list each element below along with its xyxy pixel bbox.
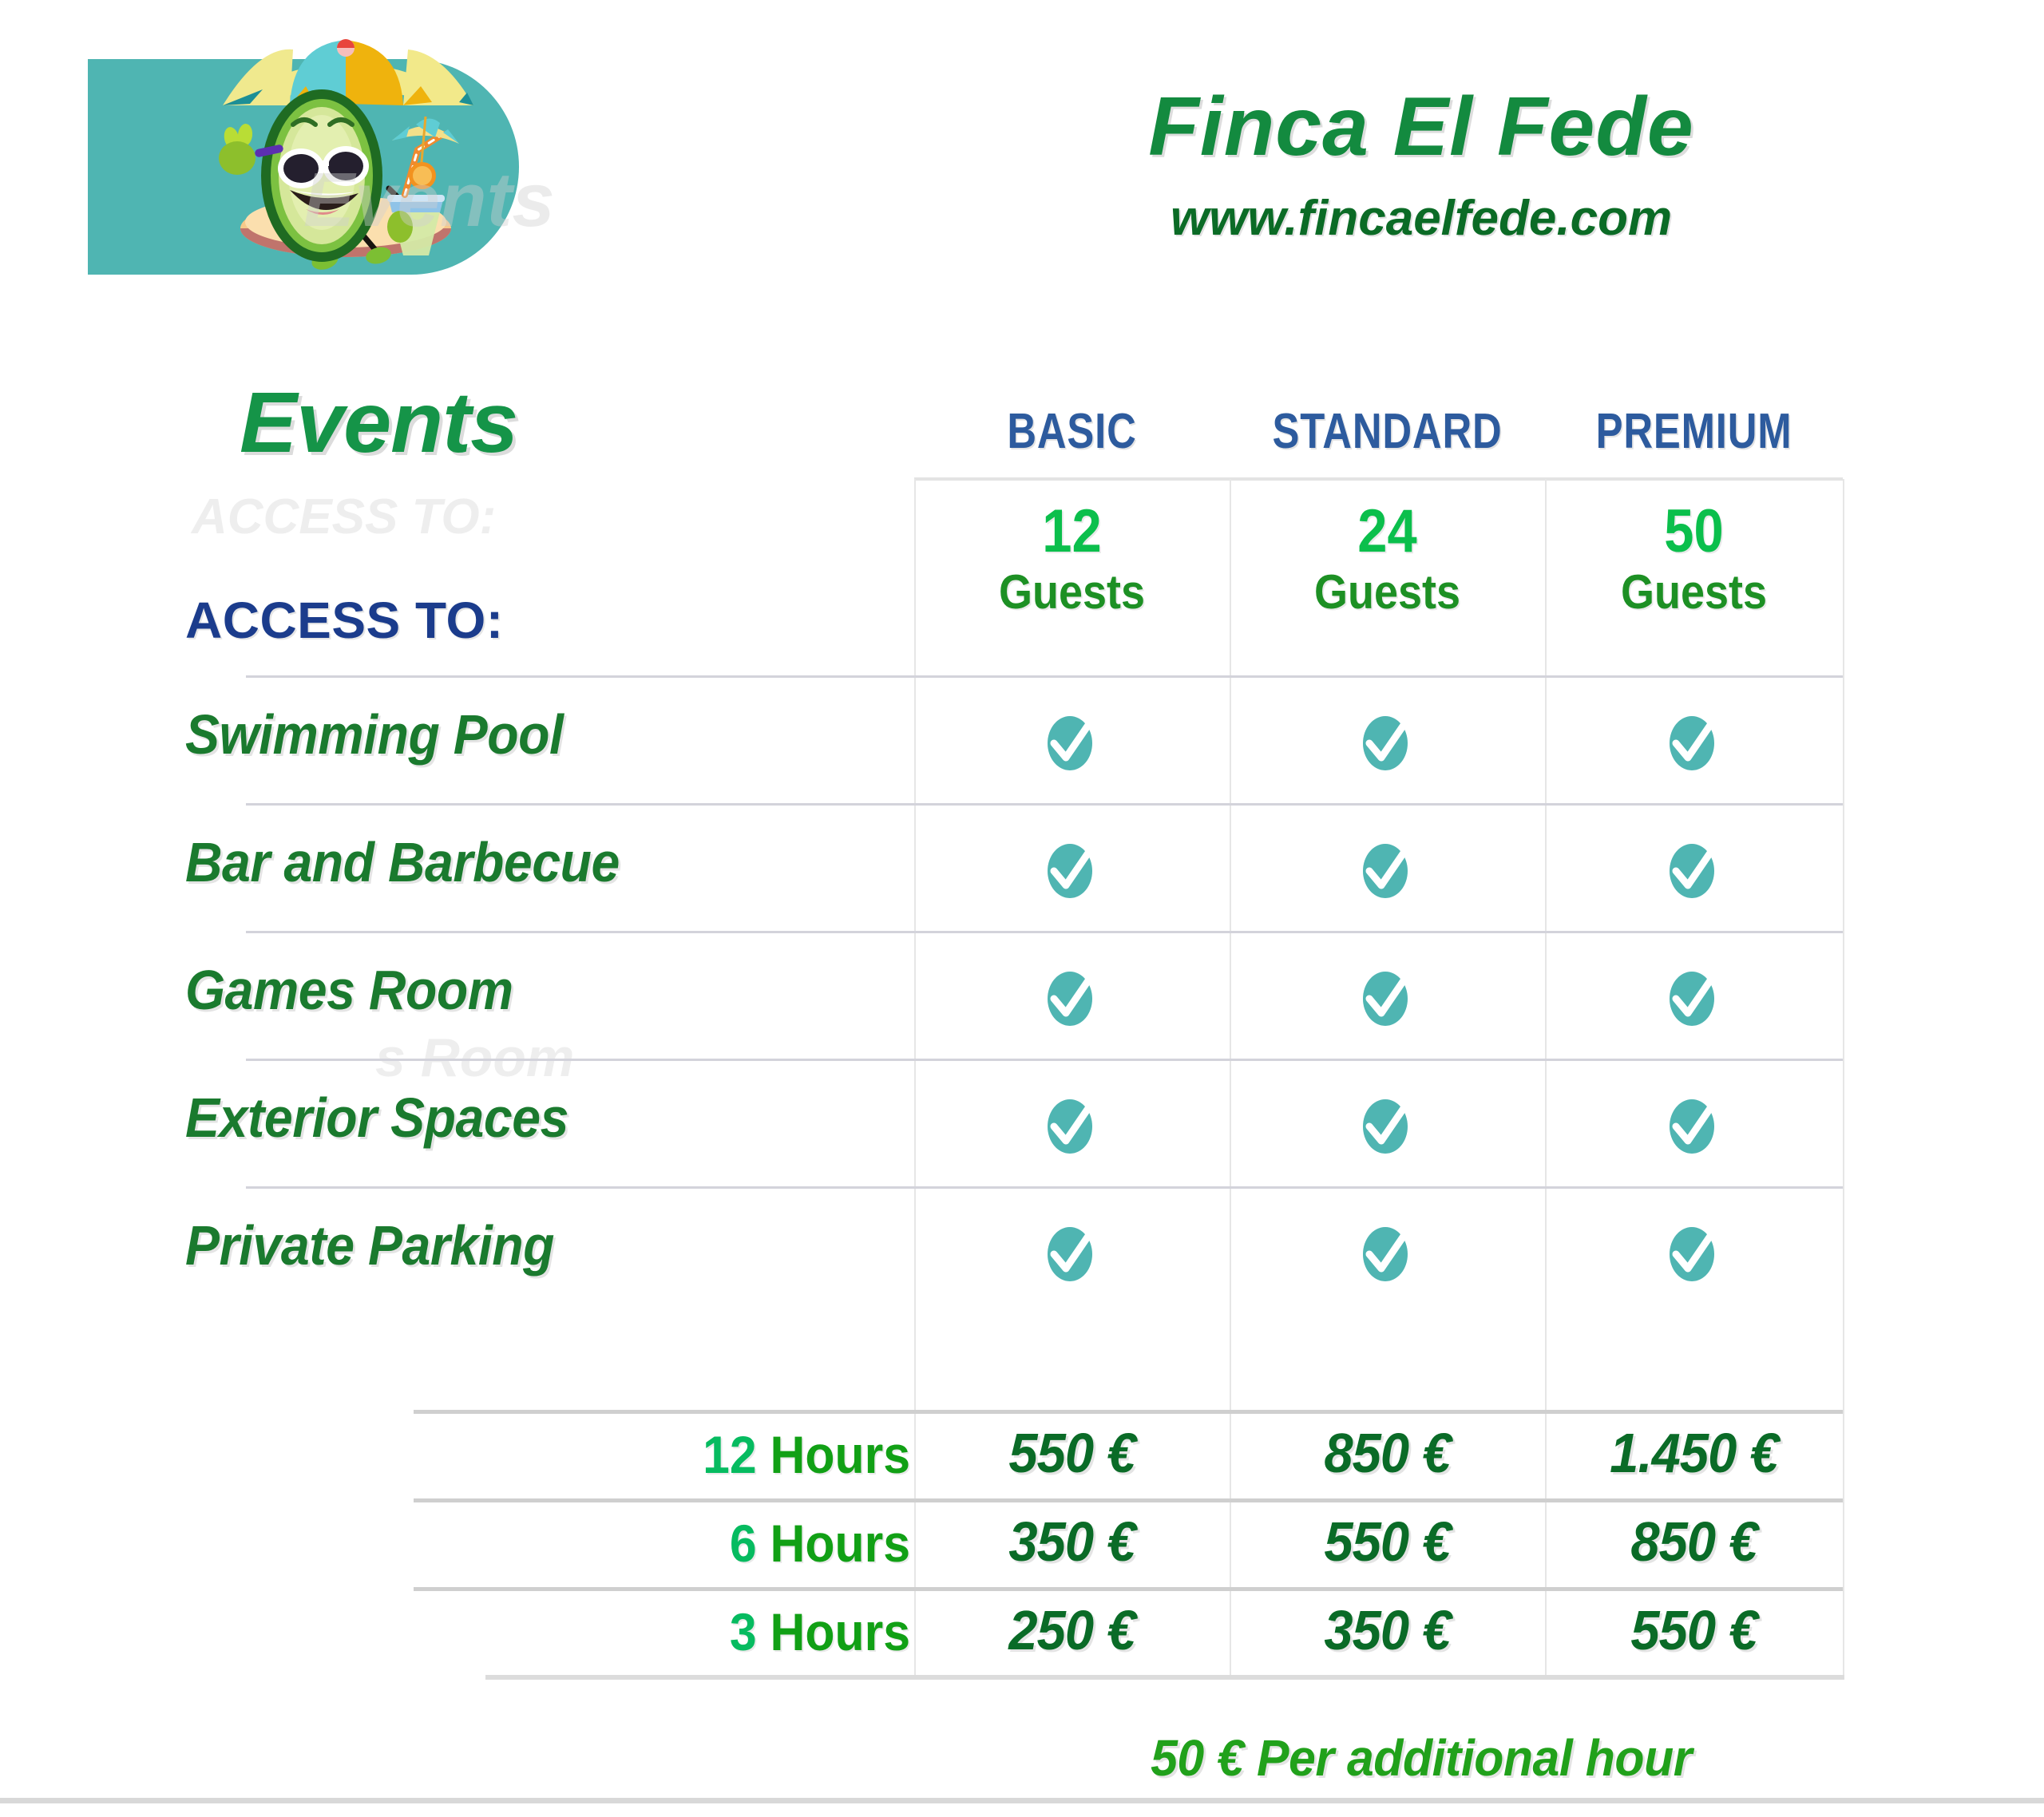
feature-cell-standard (1230, 1207, 1545, 1295)
price-standard: 350 € (1241, 1598, 1534, 1662)
row-divider (246, 803, 1843, 806)
guest-label: Guests (930, 567, 1214, 617)
plan-header-standard[interactable]: STANDARD (1258, 403, 1517, 460)
duration-label: 6 Hours (543, 1513, 910, 1574)
additional-hour-note: 50 € Per additional hour (1080, 1728, 1763, 1787)
features-heading: ACCESS TO: (185, 591, 504, 650)
duration-label: 12 Hours (543, 1424, 910, 1485)
feature-cell-basic (914, 696, 1230, 784)
check-icon (1041, 703, 1103, 777)
price-basic: 350 € (925, 1510, 1218, 1574)
feature-label: Bar and Barbecue (185, 830, 620, 894)
duration-unit: Hours (757, 1602, 910, 1661)
price-basic: 250 € (925, 1598, 1218, 1662)
feature-row: Exterior Spaces (0, 1059, 2044, 1186)
guest-count: 24 (1249, 501, 1527, 562)
avocado-beach-logo-icon (204, 30, 507, 274)
feature-cell-basic (914, 1207, 1230, 1295)
row-divider (414, 1410, 1843, 1414)
duration-number: 12 (703, 1425, 757, 1484)
header-rule (914, 477, 1843, 481)
feature-cell-premium (1545, 1079, 1843, 1167)
feature-label: Private Parking (185, 1213, 554, 1277)
feature-cell-basic (914, 952, 1230, 1039)
check-icon (1663, 703, 1725, 777)
feature-cell-premium (1545, 1207, 1843, 1295)
row-divider (414, 1498, 1843, 1502)
feature-cell-basic (914, 1079, 1230, 1167)
feature-cell-premium (1545, 952, 1843, 1039)
feature-cell-standard (1230, 952, 1545, 1039)
feature-cell-premium (1545, 696, 1843, 784)
row-divider (246, 931, 1843, 933)
brand-title: Finca El Fede (1062, 80, 1781, 175)
row-divider (246, 1186, 1843, 1189)
feature-cell-standard (1230, 1079, 1545, 1167)
pricing-bottom-rule (485, 1675, 1844, 1680)
check-icon (1357, 959, 1419, 1032)
guest-capacity-standard: 24 Guests (1230, 501, 1545, 617)
row-divider (246, 1059, 1843, 1061)
ghost-text-1: ACCESS TO: (192, 489, 496, 545)
feature-row: Games Room (0, 931, 2044, 1059)
feature-row: Swimming Pool (0, 675, 2044, 803)
feature-cell-basic (914, 824, 1230, 912)
guest-capacity-premium: 50 Guests (1545, 501, 1843, 617)
check-icon (1357, 831, 1419, 905)
feature-row: Private Parking (0, 1186, 2044, 1314)
duration-label: 3 Hours (543, 1601, 910, 1662)
price-premium: 1.450 € (1555, 1421, 1832, 1485)
guest-label: Guests (1560, 567, 1828, 617)
check-icon (1041, 831, 1103, 905)
plan-header-premium[interactable]: PREMIUM (1572, 403, 1816, 460)
feature-cell-standard (1230, 824, 1545, 912)
plan-header-basic[interactable]: BASIC (943, 403, 1202, 460)
feature-label: Games Room (185, 958, 513, 1022)
feature-cell-premium (1545, 824, 1843, 912)
price-premium: 550 € (1555, 1598, 1832, 1662)
brand-logo (88, 30, 519, 274)
check-icon (1357, 1214, 1419, 1288)
check-icon (1663, 959, 1725, 1032)
section-title: Events (240, 372, 517, 472)
price-standard: 850 € (1241, 1421, 1534, 1485)
feature-label: Swimming Pool (185, 703, 563, 766)
page-bottom-rule (0, 1798, 2044, 1803)
guest-capacity-basic: 12 Guests (914, 501, 1230, 617)
check-icon (1357, 1087, 1419, 1160)
guest-label: Guests (1246, 567, 1530, 617)
feature-row: Bar and Barbecue (0, 803, 2044, 931)
guest-count: 12 (933, 501, 1211, 562)
check-icon (1663, 831, 1725, 905)
duration-unit: Hours (757, 1514, 910, 1573)
pricing-row: 6 Hours350 €550 €850 € (0, 1498, 2044, 1586)
pricing-flyer: Finca El Fede www.fincaelfede.com Events… (0, 0, 2044, 1817)
check-icon (1041, 1214, 1103, 1288)
price-basic: 550 € (925, 1421, 1218, 1485)
duration-unit: Hours (757, 1425, 910, 1484)
check-icon (1663, 1214, 1725, 1288)
price-standard: 550 € (1241, 1510, 1534, 1574)
brand-website: www.fincaelfede.com (1062, 190, 1781, 247)
price-premium: 850 € (1555, 1510, 1832, 1574)
pricing-row: 3 Hours250 €350 €550 € (0, 1587, 2044, 1675)
pricing-row: 12 Hours550 €850 €1.450 € (0, 1410, 2044, 1498)
check-icon (1357, 703, 1419, 777)
feature-label: Exterior Spaces (185, 1086, 568, 1150)
check-icon (1041, 959, 1103, 1032)
feature-cell-standard (1230, 696, 1545, 784)
duration-number: 3 (730, 1602, 757, 1661)
check-icon (1663, 1087, 1725, 1160)
row-divider (246, 675, 1843, 678)
duration-number: 6 (730, 1514, 757, 1573)
check-icon (1041, 1087, 1103, 1160)
row-divider (414, 1587, 1843, 1591)
guest-count: 50 (1563, 501, 1824, 562)
